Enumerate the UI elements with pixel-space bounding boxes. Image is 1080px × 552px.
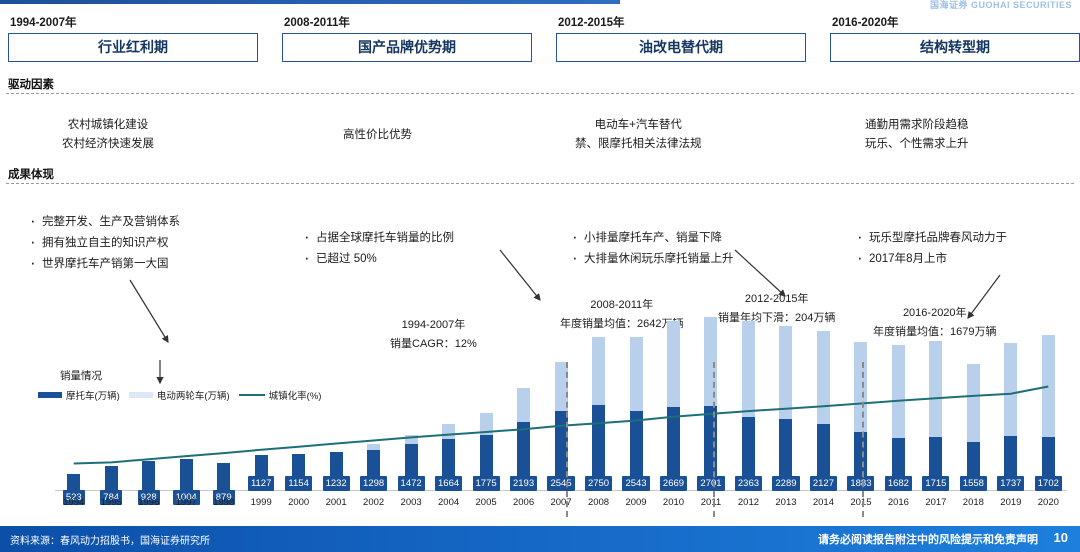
results-section-label: 成果体现 <box>8 166 54 182</box>
annotation-note-2-line2: 销量年均下滑：204万辆 <box>718 309 835 328</box>
driver-text-1-0: 高性价比优势 <box>343 126 412 145</box>
annotation-note-3: 2016-2020年 年度销量均值：1679万辆 <box>873 304 996 342</box>
sales-chart: 销量情况 摩托车(万辆) 电动两轮车(万辆) 城镇化率(%) 523784928… <box>0 360 1080 525</box>
phase-name-3: 结构转型期 <box>830 33 1080 62</box>
bar-value-label: 1664 <box>435 476 462 491</box>
annotation-note-0-line1: 1994-2007年 <box>390 316 477 335</box>
footer-source: 资料来源：春风动力招股书，国海证券研究所 <box>10 532 210 547</box>
annotation-note-0: 1994-2007年 销量CAGR：12% <box>390 316 477 354</box>
page-number: 10 <box>1054 530 1068 545</box>
period-divider-3 <box>862 362 864 517</box>
result-group-3: 玩乐型摩托品牌春风动力于 2017年8月上市 <box>855 228 1007 249</box>
value-label-cell: 879 <box>205 476 242 491</box>
value-label-cell: 2127 <box>805 476 842 491</box>
result-item-0-2: 世界摩托车产销第一大国 <box>28 254 180 275</box>
driver-group-2: 电动车+汽车替代 禁、限摩托相关法律法规 <box>575 116 702 154</box>
value-label-cell: 1775 <box>467 476 504 491</box>
value-label-cell: 928 <box>130 476 167 491</box>
driver-text-2-0: 电动车+汽车替代 <box>575 116 702 135</box>
result-item-3-1-text: 2017年8月上市 <box>869 249 947 270</box>
x-tick-label: 1999 <box>242 497 279 508</box>
x-tick-label: 2006 <box>505 497 542 508</box>
chart-value-labels: 5237849281004879112711541232129814721664… <box>55 476 1067 491</box>
value-label-cell: 1702 <box>1030 476 1067 491</box>
x-tick-label: 2020 <box>1030 497 1067 508</box>
value-label-cell: 1682 <box>880 476 917 491</box>
annotation-note-1-line2: 年度销量均值：2642万辆 <box>560 315 683 334</box>
bar-value-label: 2750 <box>585 476 612 491</box>
x-tick-label: 2012 <box>730 497 767 508</box>
x-tick-label: 2003 <box>392 497 429 508</box>
value-label-cell: 1298 <box>355 476 392 491</box>
annotation-note-2-line1: 2012-2015年 <box>718 290 835 309</box>
bar-value-label: 1154 <box>285 476 311 491</box>
footer-disclaimer: 请务必阅读报告附注中的风险提示和免责声明 <box>818 531 1038 547</box>
bar-value-label: 1682 <box>885 476 912 491</box>
annotation-note-2: 2012-2015年 销量年均下滑：204万辆 <box>718 290 835 328</box>
value-label-cell: 2669 <box>655 476 692 491</box>
x-tick-label: 2015 <box>842 497 879 508</box>
bar-value-label: 1883 <box>847 476 874 491</box>
phase-years-2: 2012-2015年 <box>558 14 806 30</box>
result-group-2: 小排量摩托车产、销量下降 大排量休闲玩乐摩托销量上升 <box>570 228 734 270</box>
brand-logo: 国海证券 GUOHAI SECURITIES <box>930 0 1072 11</box>
value-label-cell: 2363 <box>730 476 767 491</box>
drivers-section-label: 驱动因素 <box>8 76 54 92</box>
phase-years-0: 1994-2007年 <box>10 14 258 30</box>
bar-value-label: 2289 <box>772 476 799 491</box>
driver-group-0: 农村城镇化建设 农村经济快速发展 <box>62 116 154 154</box>
slide-footer: 资料来源：春风动力招股书，国海证券研究所 请务必阅读报告附注中的风险提示和免责声… <box>0 526 1080 552</box>
slide-root: 国海证券 GUOHAI SECURITIES 1994-2007年 行业红利期 … <box>0 0 1080 552</box>
bar-value-label: 1298 <box>360 476 387 491</box>
driver-text-3-0: 通勤用需求阶段趋稳 <box>865 116 969 135</box>
result-item-3-0: 玩乐型摩托品牌春风动力于 <box>855 228 1007 249</box>
result-item-2-1: 大排量休闲玩乐摩托销量上升 <box>570 249 734 270</box>
x-tick-label: 2004 <box>430 497 467 508</box>
period-divider-2 <box>713 362 715 517</box>
value-label-cell: 1664 <box>430 476 467 491</box>
value-label-cell: 1558 <box>955 476 992 491</box>
result-item-1-1-text: 已超过 50% <box>316 249 377 270</box>
top-accent-rule <box>0 0 620 4</box>
driver-text-0-0: 农村城镇化建设 <box>62 116 154 135</box>
annotation-note-1-line1: 2008-2011年 <box>560 296 683 315</box>
driver-text-3-1: 玩乐、个性需求上升 <box>865 135 969 154</box>
x-tick-label: 2002 <box>355 497 392 508</box>
phase-card-3: 2016-2020年 结构转型期 <box>830 14 1080 62</box>
bar-value-label: 1715 <box>922 476 949 491</box>
value-label-cell: 1127 <box>242 476 279 491</box>
x-tick-label: 1995 <box>92 497 129 508</box>
period-divider-1 <box>566 362 568 517</box>
bar-value-label: 1472 <box>398 476 425 491</box>
x-tick-label: 2014 <box>805 497 842 508</box>
result-group-0: 完整开发、生产及营销体系 拥有独立自主的知识产权 世界摩托车产销第一大国 <box>28 212 180 275</box>
x-tick-label: 1998 <box>205 497 242 508</box>
x-tick-label: 2019 <box>992 497 1029 508</box>
x-tick-label: 2001 <box>317 497 354 508</box>
bar-value-label: 2545 <box>547 476 574 491</box>
results-divider <box>6 183 1074 184</box>
result-item-1-0: 占据全球摩托车销量的比例 <box>302 228 454 249</box>
x-tick-label: 2008 <box>580 497 617 508</box>
phase-name-2: 油改电替代期 <box>556 33 806 62</box>
annotation-note-3-line2: 年度销量均值：1679万辆 <box>873 323 996 342</box>
phase-card-0: 1994-2007年 行业红利期 <box>8 14 258 62</box>
bar-value-label: 2363 <box>735 476 762 491</box>
chart-x-axis: 1994199519961997199819992000200120022003… <box>55 497 1067 508</box>
x-tick-label: 1994 <box>55 497 92 508</box>
x-tick-label: 2016 <box>880 497 917 508</box>
phase-years-3: 2016-2020年 <box>832 14 1080 30</box>
bar-value-label: 2669 <box>660 476 687 491</box>
bar-value-label: 1232 <box>323 476 350 491</box>
x-tick-label: 2009 <box>617 497 654 508</box>
x-tick-label: 2007 <box>542 497 579 508</box>
result-item-0-1: 拥有独立自主的知识产权 <box>28 233 180 254</box>
bar-value-label: 2193 <box>510 476 537 491</box>
x-tick-label: 2011 <box>692 497 729 508</box>
value-label-cell: 1737 <box>992 476 1029 491</box>
phase-name-0: 行业红利期 <box>8 33 258 62</box>
value-label-cell: 1883 <box>842 476 879 491</box>
value-label-cell: 1472 <box>392 476 429 491</box>
phase-card-1: 2008-2011年 国产品牌优势期 <box>282 14 532 62</box>
bar-value-label: 2543 <box>622 476 649 491</box>
phase-card-2: 2012-2015年 油改电替代期 <box>556 14 806 62</box>
value-label-cell: 2701 <box>692 476 729 491</box>
bar-value-label: 1558 <box>960 476 987 491</box>
result-group-1: 占据全球摩托车销量的比例 已超过 50% <box>302 228 454 249</box>
result-item-2-0: 小排量摩托车产、销量下降 <box>570 228 734 249</box>
value-label-cell: 1715 <box>917 476 954 491</box>
annotation-note-0-line2: 销量CAGR：12% <box>390 335 477 354</box>
phase-header: 1994-2007年 行业红利期 2008-2011年 国产品牌优势期 2012… <box>8 14 1072 66</box>
urbanization-line <box>55 360 1067 490</box>
value-label-cell: 2545 <box>542 476 579 491</box>
driver-group-1: 高性价比优势 <box>343 126 412 145</box>
annotation-note-3-line1: 2016-2020年 <box>873 304 996 323</box>
value-label-cell: 2289 <box>767 476 804 491</box>
x-tick-label: 1997 <box>167 497 204 508</box>
bar-value-label: 1127 <box>248 476 274 491</box>
bar-value-label: 1702 <box>1035 476 1062 491</box>
driver-text-0-1: 农村经济快速发展 <box>62 135 154 154</box>
bar-value-label: 2127 <box>810 476 837 491</box>
value-label-cell: 523 <box>55 476 92 491</box>
result-item-0-0: 完整开发、生产及营销体系 <box>28 212 180 233</box>
driver-group-3: 通勤用需求阶段趋稳 玩乐、个性需求上升 <box>865 116 969 154</box>
driver-text-2-1: 禁、限摩托相关法律法规 <box>575 135 702 154</box>
bar-value-label: 1775 <box>473 476 500 491</box>
x-tick-label: 2000 <box>280 497 317 508</box>
x-tick-label: 2017 <box>917 497 954 508</box>
phase-name-1: 国产品牌优势期 <box>282 33 532 62</box>
value-label-cell: 2543 <box>617 476 654 491</box>
bar-value-label: 2701 <box>697 476 724 491</box>
x-tick-label: 2018 <box>955 497 992 508</box>
x-tick-label: 2013 <box>767 497 804 508</box>
bar-value-label: 1737 <box>997 476 1024 491</box>
value-label-cell: 1232 <box>317 476 354 491</box>
x-tick-label: 1996 <box>130 497 167 508</box>
drivers-divider <box>6 93 1074 94</box>
phase-years-1: 2008-2011年 <box>284 14 532 30</box>
annotation-note-1: 2008-2011年 年度销量均值：2642万辆 <box>560 296 683 334</box>
value-label-cell: 1154 <box>280 476 317 491</box>
x-tick-label: 2005 <box>467 497 504 508</box>
value-label-cell: 2750 <box>580 476 617 491</box>
chart-plot-area <box>55 360 1067 490</box>
value-label-cell: 1004 <box>167 476 204 491</box>
x-tick-label: 2010 <box>655 497 692 508</box>
value-label-cell: 784 <box>92 476 129 491</box>
value-label-cell: 2193 <box>505 476 542 491</box>
